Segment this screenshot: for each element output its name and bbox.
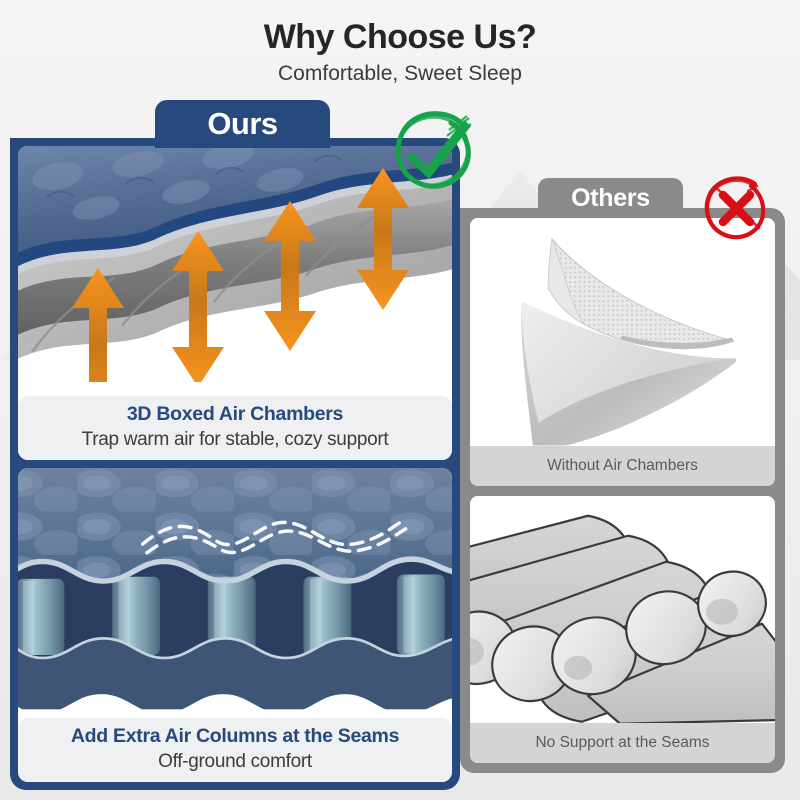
- ours-caption-1: 3D Boxed Air Chambers Trap warm air for …: [18, 396, 452, 460]
- ours-card-2: Add Extra Air Columns at the Seams Off-g…: [18, 468, 452, 782]
- others-caption-2: No Support at the Seams: [470, 723, 775, 763]
- ours-caption-2-heading: Add Extra Air Columns at the Seams: [24, 725, 446, 748]
- ours-panel-body: 3D Boxed Air Chambers Trap warm air for …: [10, 138, 460, 790]
- air-columns-seam-cross-section-image: [18, 468, 452, 718]
- ours-caption-2: Add Extra Air Columns at the Seams Off-g…: [18, 718, 452, 782]
- tab-others[interactable]: Others: [538, 178, 683, 218]
- plain-tube-rolls-image: [470, 496, 775, 724]
- tab-ours[interactable]: Ours: [155, 100, 330, 148]
- red-cross-icon: [700, 172, 772, 244]
- page-title: Why Choose Us?: [0, 18, 800, 57]
- others-panel: Others: [460, 178, 785, 773]
- ours-caption-1-subtext: Trap warm air for stable, cozy support: [24, 429, 446, 451]
- tab-ours-label: Ours: [207, 106, 277, 142]
- others-card-1: Without Air Chambers: [470, 218, 775, 486]
- green-check-icon: [385, 100, 481, 196]
- infographic-canvas: Why Choose Us? Comfortable, Sweet Sleep …: [0, 0, 800, 800]
- others-caption-1: Without Air Chambers: [470, 446, 775, 486]
- others-card-2: No Support at the Seams: [470, 496, 775, 764]
- others-panel-body: Without Air Chambers: [460, 208, 785, 773]
- ours-caption-1-heading: 3D Boxed Air Chambers: [24, 403, 446, 426]
- ours-caption-2-subtext: Off-ground comfort: [24, 751, 446, 773]
- thin-folded-fabric-sheet-image: [470, 218, 775, 446]
- page-subtitle: Comfortable, Sweet Sleep: [0, 62, 800, 86]
- ours-panel: Ours: [10, 100, 460, 790]
- tab-others-label: Others: [571, 184, 650, 213]
